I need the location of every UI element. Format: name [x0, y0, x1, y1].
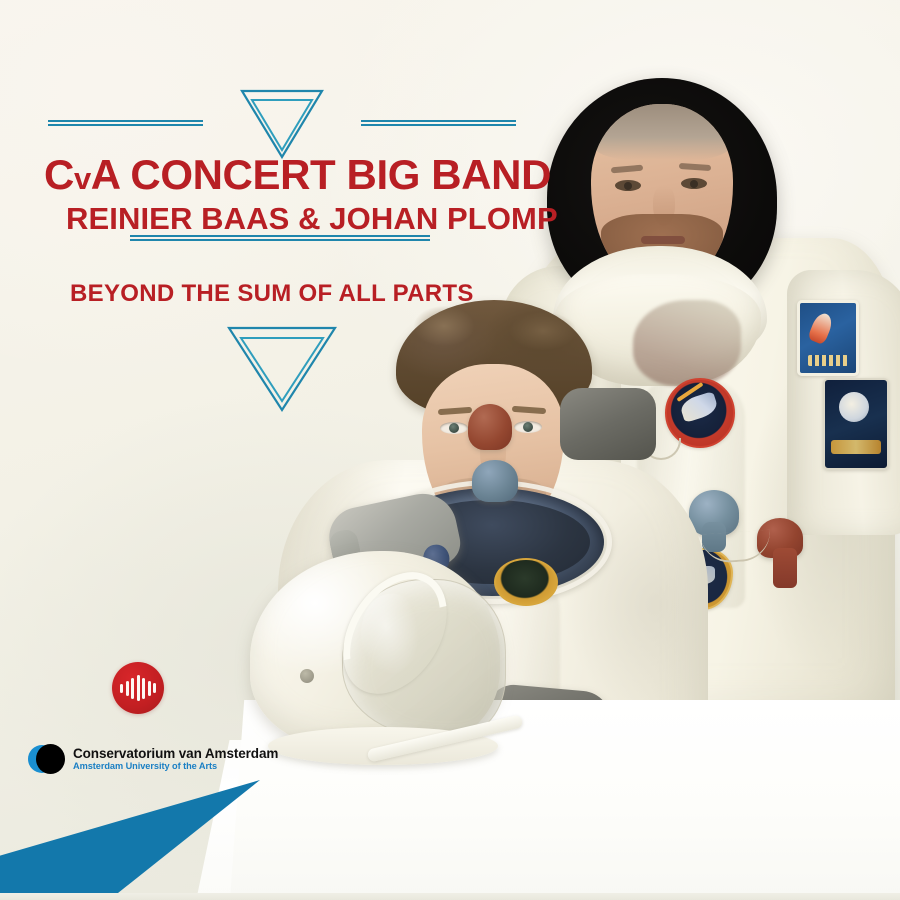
rule-top-right	[361, 120, 516, 126]
wave-bar	[137, 675, 140, 701]
shoulder-patch-rocket	[797, 300, 859, 376]
seated-astronaut-left-eyebrow	[438, 407, 472, 415]
helmet-stud	[300, 669, 314, 683]
standing-astronaut-mouth	[641, 236, 685, 244]
arm-patch-dark	[823, 378, 889, 470]
title-block: CvA CONCERT BIG BAND REINIER BAAS & JOHA…	[44, 92, 520, 407]
wave-bar	[142, 678, 145, 699]
standing-astronaut-hair	[591, 104, 733, 160]
logo-subtitle: Amsterdam University of the Arts	[73, 762, 278, 772]
standing-astronaut-left-eyebrow	[611, 165, 643, 174]
rule-middle	[130, 235, 430, 241]
front-suit-valve-red	[468, 404, 512, 450]
wave-bar	[131, 678, 134, 699]
wave-bar	[120, 684, 123, 693]
standing-astronaut-left-eye	[615, 180, 641, 191]
page-title: CvA CONCERT BIG BAND	[44, 154, 520, 197]
bottom-ornament-row	[44, 317, 520, 407]
conservatorium-logo-text: Conservatorium van Amsterdam Amsterdam U…	[73, 747, 278, 772]
conservatorium-logo[interactable]: Conservatorium van Amsterdam Amsterdam U…	[28, 744, 278, 774]
album-cover-poster: CvA CONCERT BIG BAND REINIER BAAS & JOHA…	[0, 0, 900, 900]
logo-title: Conservatorium van Amsterdam	[73, 747, 278, 761]
triangle-down-icon	[240, 88, 324, 160]
conservatorium-logo-mark-icon	[28, 744, 64, 774]
title-c: C	[44, 151, 74, 198]
title-v: v	[74, 161, 91, 196]
standing-astronaut-right-eyebrow	[679, 163, 711, 171]
sound-wave-badge[interactable]	[112, 662, 164, 714]
front-suit-valve-blue	[472, 460, 518, 502]
triangle-down-icon	[227, 325, 337, 413]
title-rest: CONCERT BIG BAND	[119, 151, 551, 198]
logo-circle-black	[36, 744, 65, 774]
tagline: BEYOND THE SUM OF ALL PARTS	[70, 281, 520, 306]
space-helmet-on-table	[250, 545, 522, 763]
artists-line: REINIER BAAS & JOHAN PLOMP	[66, 203, 520, 236]
table-bottom-edge	[0, 893, 900, 900]
rule-top-left	[48, 120, 203, 126]
seated-astronaut-right-eyebrow	[512, 406, 546, 414]
standing-astronaut-right-eye	[681, 178, 707, 189]
top-ornament-row	[44, 92, 520, 150]
title-a: A	[91, 151, 119, 198]
seated-astronaut-left-eye	[440, 422, 468, 434]
middle-ornament-row	[44, 235, 520, 273]
bottom-triangle-ornament	[227, 325, 337, 413]
wave-bar	[126, 681, 129, 696]
top-triangle-ornament	[240, 88, 324, 160]
glove-far-right	[560, 388, 656, 460]
seated-astronaut-right-eye	[514, 421, 542, 433]
wave-bar	[153, 683, 156, 693]
wave-bar	[148, 681, 151, 696]
